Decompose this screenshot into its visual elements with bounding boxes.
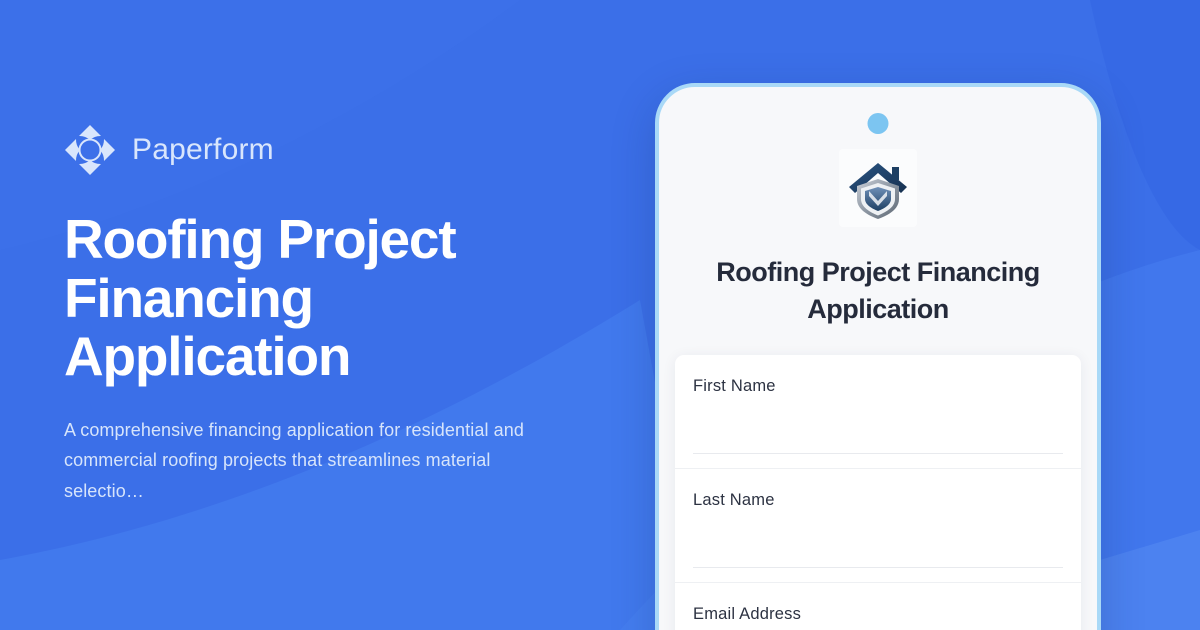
roof-shield-logo-icon (839, 149, 917, 227)
brand-lockup: Paperform (64, 124, 664, 176)
page-description: A comprehensive financing application fo… (64, 415, 559, 506)
form-field-last-name[interactable]: Last Name (675, 469, 1081, 583)
field-label: Email Address (693, 605, 1063, 625)
share-card-canvas: Paperform Roofing Project Financing Appl… (0, 0, 1200, 630)
field-label: First Name (693, 377, 1063, 397)
hero-panel: Paperform Roofing Project Financing Appl… (64, 0, 664, 630)
form-field-first-name[interactable]: First Name (675, 355, 1081, 469)
brand-name: Paperform (132, 135, 274, 165)
form-field-email-address[interactable]: Email Address (675, 583, 1081, 630)
phone-mockup: Roofing Project Financing Application Fi… (655, 83, 1101, 630)
field-label: Last Name (693, 491, 1063, 511)
camera-dot-icon (868, 113, 889, 134)
form-title: Roofing Project Financing Application (659, 254, 1097, 327)
page-title: Roofing Project Financing Application (64, 210, 609, 385)
field-underline (693, 453, 1063, 454)
field-underline (693, 567, 1063, 568)
form-card: First Name Last Name Email Address (675, 355, 1081, 630)
paperform-diamond-logo-icon (64, 124, 116, 176)
